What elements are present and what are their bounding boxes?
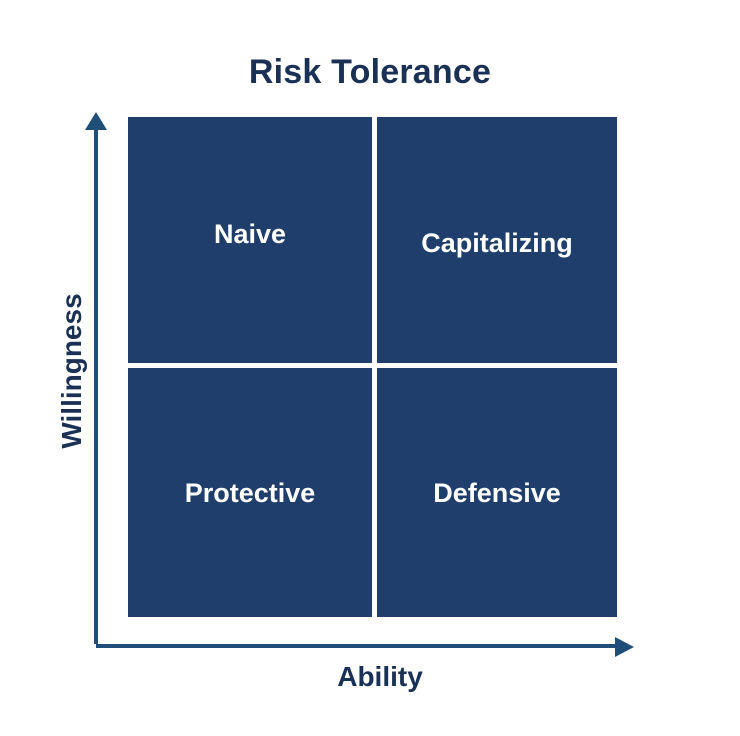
quadrant-label-protective: Protective: [185, 477, 316, 509]
quadrant-top-left: Naive: [128, 117, 372, 363]
quadrant-label-defensive: Defensive: [433, 477, 561, 509]
quadrant-bottom-left: Protective: [128, 368, 372, 617]
quadrant-label-naive: Naive: [214, 218, 286, 250]
quadrant-label-capitalizing: Capitalizing: [421, 227, 573, 259]
x-axis-line: [96, 644, 618, 648]
x-axis-title: Ability: [280, 660, 480, 694]
risk-tolerance-matrix-figure: Risk Tolerance Willingness Ability Naive…: [0, 0, 740, 736]
y-axis-title: Willingness: [56, 271, 88, 471]
quadrant-matrix: Naive Capitalizing Protective Defensive: [128, 117, 617, 617]
y-axis-line: [94, 126, 98, 644]
quadrant-top-right: Capitalizing: [377, 117, 617, 363]
quadrant-bottom-right: Defensive: [377, 368, 617, 617]
chart-title: Risk Tolerance: [0, 52, 740, 92]
x-axis-arrow-icon: [615, 637, 634, 657]
